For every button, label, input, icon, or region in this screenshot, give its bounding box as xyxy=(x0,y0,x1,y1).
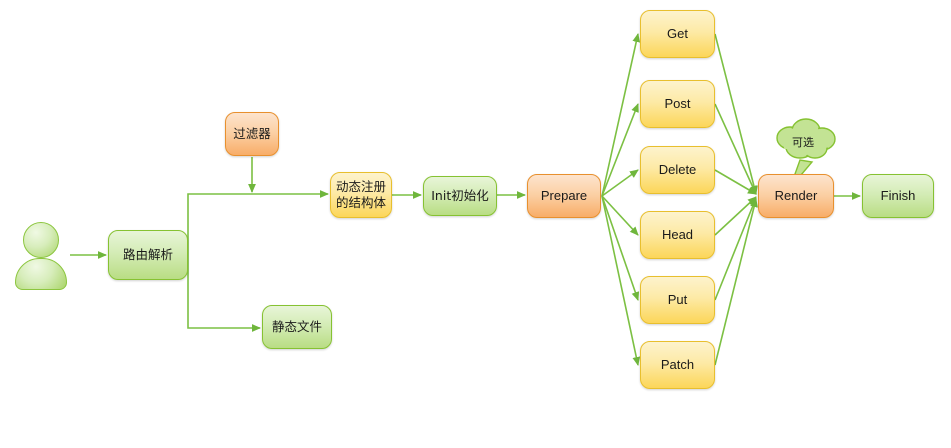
edge-patch-render xyxy=(715,199,756,365)
edge-prepare-put xyxy=(602,196,638,300)
node-render[interactable]: Render xyxy=(758,174,834,218)
edge-route-static xyxy=(188,255,260,328)
optional-callout-label: 可选 xyxy=(770,123,836,161)
node-init[interactable]: Init初始化 xyxy=(423,176,497,216)
node-struct[interactable]: 动态注册 的结构体 xyxy=(330,172,392,218)
node-static[interactable]: 静态文件 xyxy=(262,305,332,349)
node-put[interactable]: Put xyxy=(640,276,715,324)
user-actor xyxy=(12,222,68,288)
actor-head-icon xyxy=(23,222,59,258)
node-get[interactable]: Get xyxy=(640,10,715,58)
node-delete[interactable]: Delete xyxy=(640,146,715,194)
edge-prepare-head xyxy=(602,196,638,235)
edge-layer xyxy=(0,0,951,448)
flowchart-canvas: 可选 路由解析过滤器静态文件动态注册 的结构体Init初始化PrepareGet… xyxy=(0,0,951,448)
node-head[interactable]: Head xyxy=(640,211,715,259)
node-post[interactable]: Post xyxy=(640,80,715,128)
edge-prepare-patch xyxy=(602,196,638,365)
edge-head-render xyxy=(715,197,756,235)
node-route[interactable]: 路由解析 xyxy=(108,230,188,280)
edge-post-render xyxy=(715,104,756,194)
edge-prepare-get xyxy=(602,34,638,196)
node-finish[interactable]: Finish xyxy=(862,174,934,218)
edge-route-struct xyxy=(188,194,328,255)
node-filter[interactable]: 过滤器 xyxy=(225,112,279,156)
edge-get-render xyxy=(715,34,756,194)
actor-body-icon xyxy=(15,258,67,290)
optional-callout: 可选 xyxy=(770,123,836,161)
node-prepare[interactable]: Prepare xyxy=(527,174,601,218)
node-patch[interactable]: Patch xyxy=(640,341,715,389)
